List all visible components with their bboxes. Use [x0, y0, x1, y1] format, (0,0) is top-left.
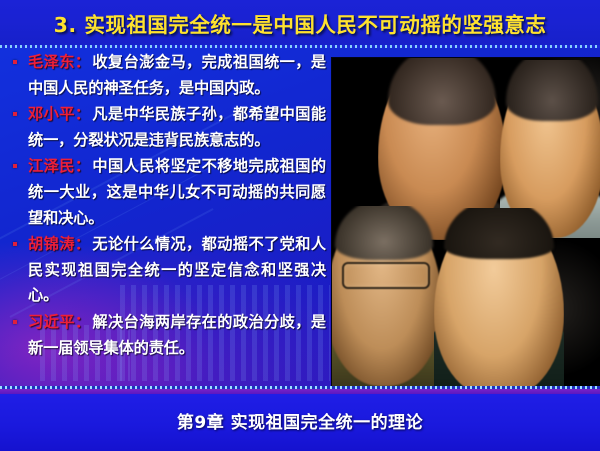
list-item: 江泽民：中国人民将坚定不移地完成祖国的统一大业，这是中华儿女不可动摇的共同愿望和… [0, 154, 332, 231]
portrait-hair [444, 208, 553, 259]
bullet-marker-icon [13, 164, 17, 168]
list-item: 邓小平：凡是中华民族子孙，都希望中国能统一，分裂状况是违背民族意志的。 [0, 102, 332, 153]
speaker-name: 江泽民： [28, 157, 90, 175]
slide-title-band: 3. 实现祖国完全统一是中国人民不可动摇的坚强意志 [0, 0, 600, 48]
leader-photo-collage [332, 58, 600, 388]
list-item: 习近平：解决台海两岸存在的政治分歧，是新一届领导集体的责任。 [0, 310, 332, 361]
slide-footer: 第9章 实现祖国完全统一的理论 [0, 394, 600, 451]
speaker-name: 毛泽东： [28, 53, 90, 71]
chapter-label: 第9章 实现祖国完全统一的理论 [0, 408, 600, 433]
list-item: 胡锦涛：无论什么情况，都动摇不了党和人民实现祖国完全统一的坚定信念和坚强决心。 [0, 232, 332, 309]
portrait-hu-jintao [434, 208, 564, 388]
portrait-hair [506, 60, 598, 121]
quote-list: 毛泽东：收复台澎金马，完成祖国统一，是中国人民的神圣任务，是中国内政。 邓小平：… [0, 50, 332, 362]
speaker-name: 习近平： [28, 313, 90, 331]
bullet-marker-icon [13, 242, 17, 246]
speaker-name: 胡锦涛： [28, 235, 90, 253]
portrait-jiang-zemin [332, 206, 442, 386]
list-item: 毛泽东：收复台澎金马，完成祖国统一，是中国人民的神圣任务，是中国内政。 [0, 50, 332, 101]
glasses-icon [342, 262, 430, 289]
portrait-hair [388, 58, 496, 125]
portrait-hair [335, 206, 432, 260]
speaker-name: 邓小平： [28, 105, 90, 123]
bullet-marker-icon [13, 112, 17, 116]
slide-content-area: 毛泽东：收复台澎金马，完成祖国统一，是中国人民的神圣任务，是中国内政。 邓小平：… [0, 48, 600, 389]
page-title: 3. 实现祖国完全统一是中国人民不可动摇的坚强意志 [0, 8, 600, 38]
bullet-marker-icon [13, 320, 17, 324]
bullet-marker-icon [13, 60, 17, 64]
presentation-slide: 3. 实现祖国完全统一是中国人民不可动摇的坚强意志 毛泽东：收复台澎金马，完成祖… [0, 0, 600, 451]
